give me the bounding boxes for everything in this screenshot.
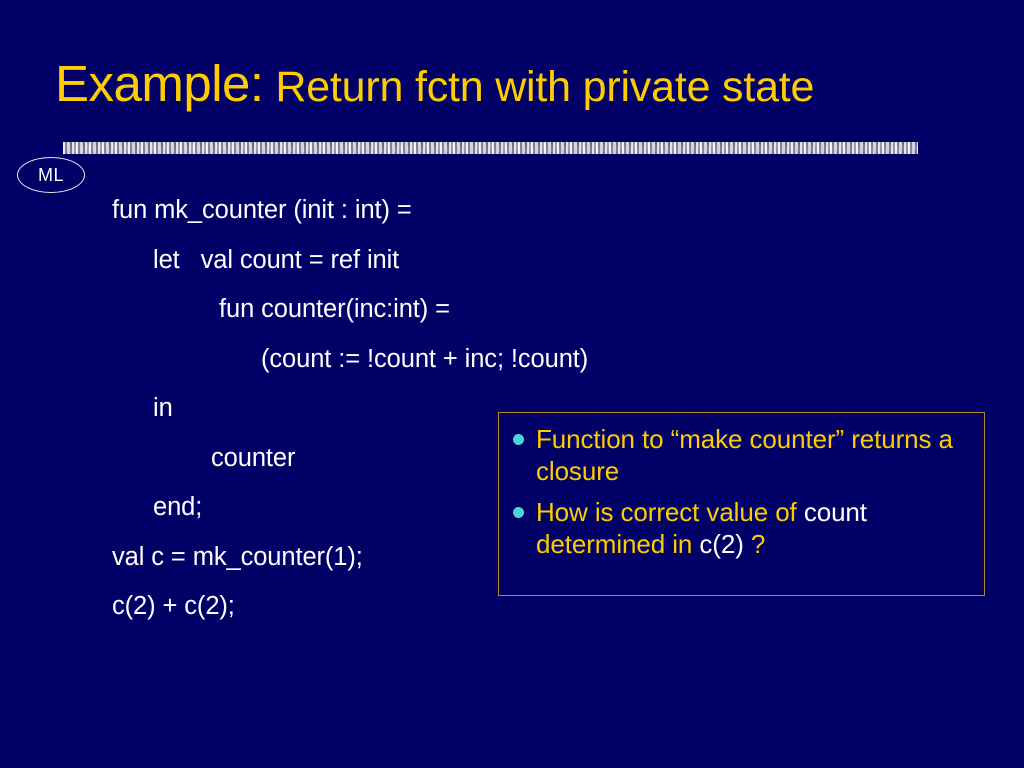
title-divider-rule [63, 142, 918, 154]
ml-language-badge-label: ML [38, 166, 64, 184]
slide-canvas: Example: Return fctn with private state … [0, 0, 1024, 768]
page-title-lead: Example: [55, 55, 264, 112]
callout-bullet-text: How is correct value of count determined… [536, 496, 976, 560]
bullet-dot-icon [513, 434, 524, 445]
callout-text-segment: c(2) [699, 529, 743, 559]
callout-text-segment: Function to “make counter” returns a clo… [536, 424, 953, 486]
callout-text-segment: count [804, 497, 867, 527]
callout-text-segment: ? [744, 529, 765, 559]
code-line: (count := !count + inc; !count) [0, 335, 1024, 385]
page-title: Example: Return fctn with private state [55, 58, 985, 128]
bullet-dot-icon [513, 507, 524, 518]
code-line: let val count = ref init [0, 236, 1024, 286]
page-title-rest: Return fctn with private state [264, 63, 815, 111]
callout-text-segment: determined in [536, 529, 699, 559]
callout-box: Function to “make counter” returns a clo… [498, 412, 985, 596]
code-line: fun counter(inc:int) = [0, 285, 1024, 335]
callout-bullet-item: How is correct value of count determined… [513, 496, 976, 560]
code-line: fun mk_counter (init : int) = [0, 186, 1024, 236]
callout-bullet-item: Function to “make counter” returns a clo… [513, 423, 976, 487]
callout-text-segment: How is correct value of [536, 497, 804, 527]
callout-bullet-text: Function to “make counter” returns a clo… [536, 423, 976, 487]
